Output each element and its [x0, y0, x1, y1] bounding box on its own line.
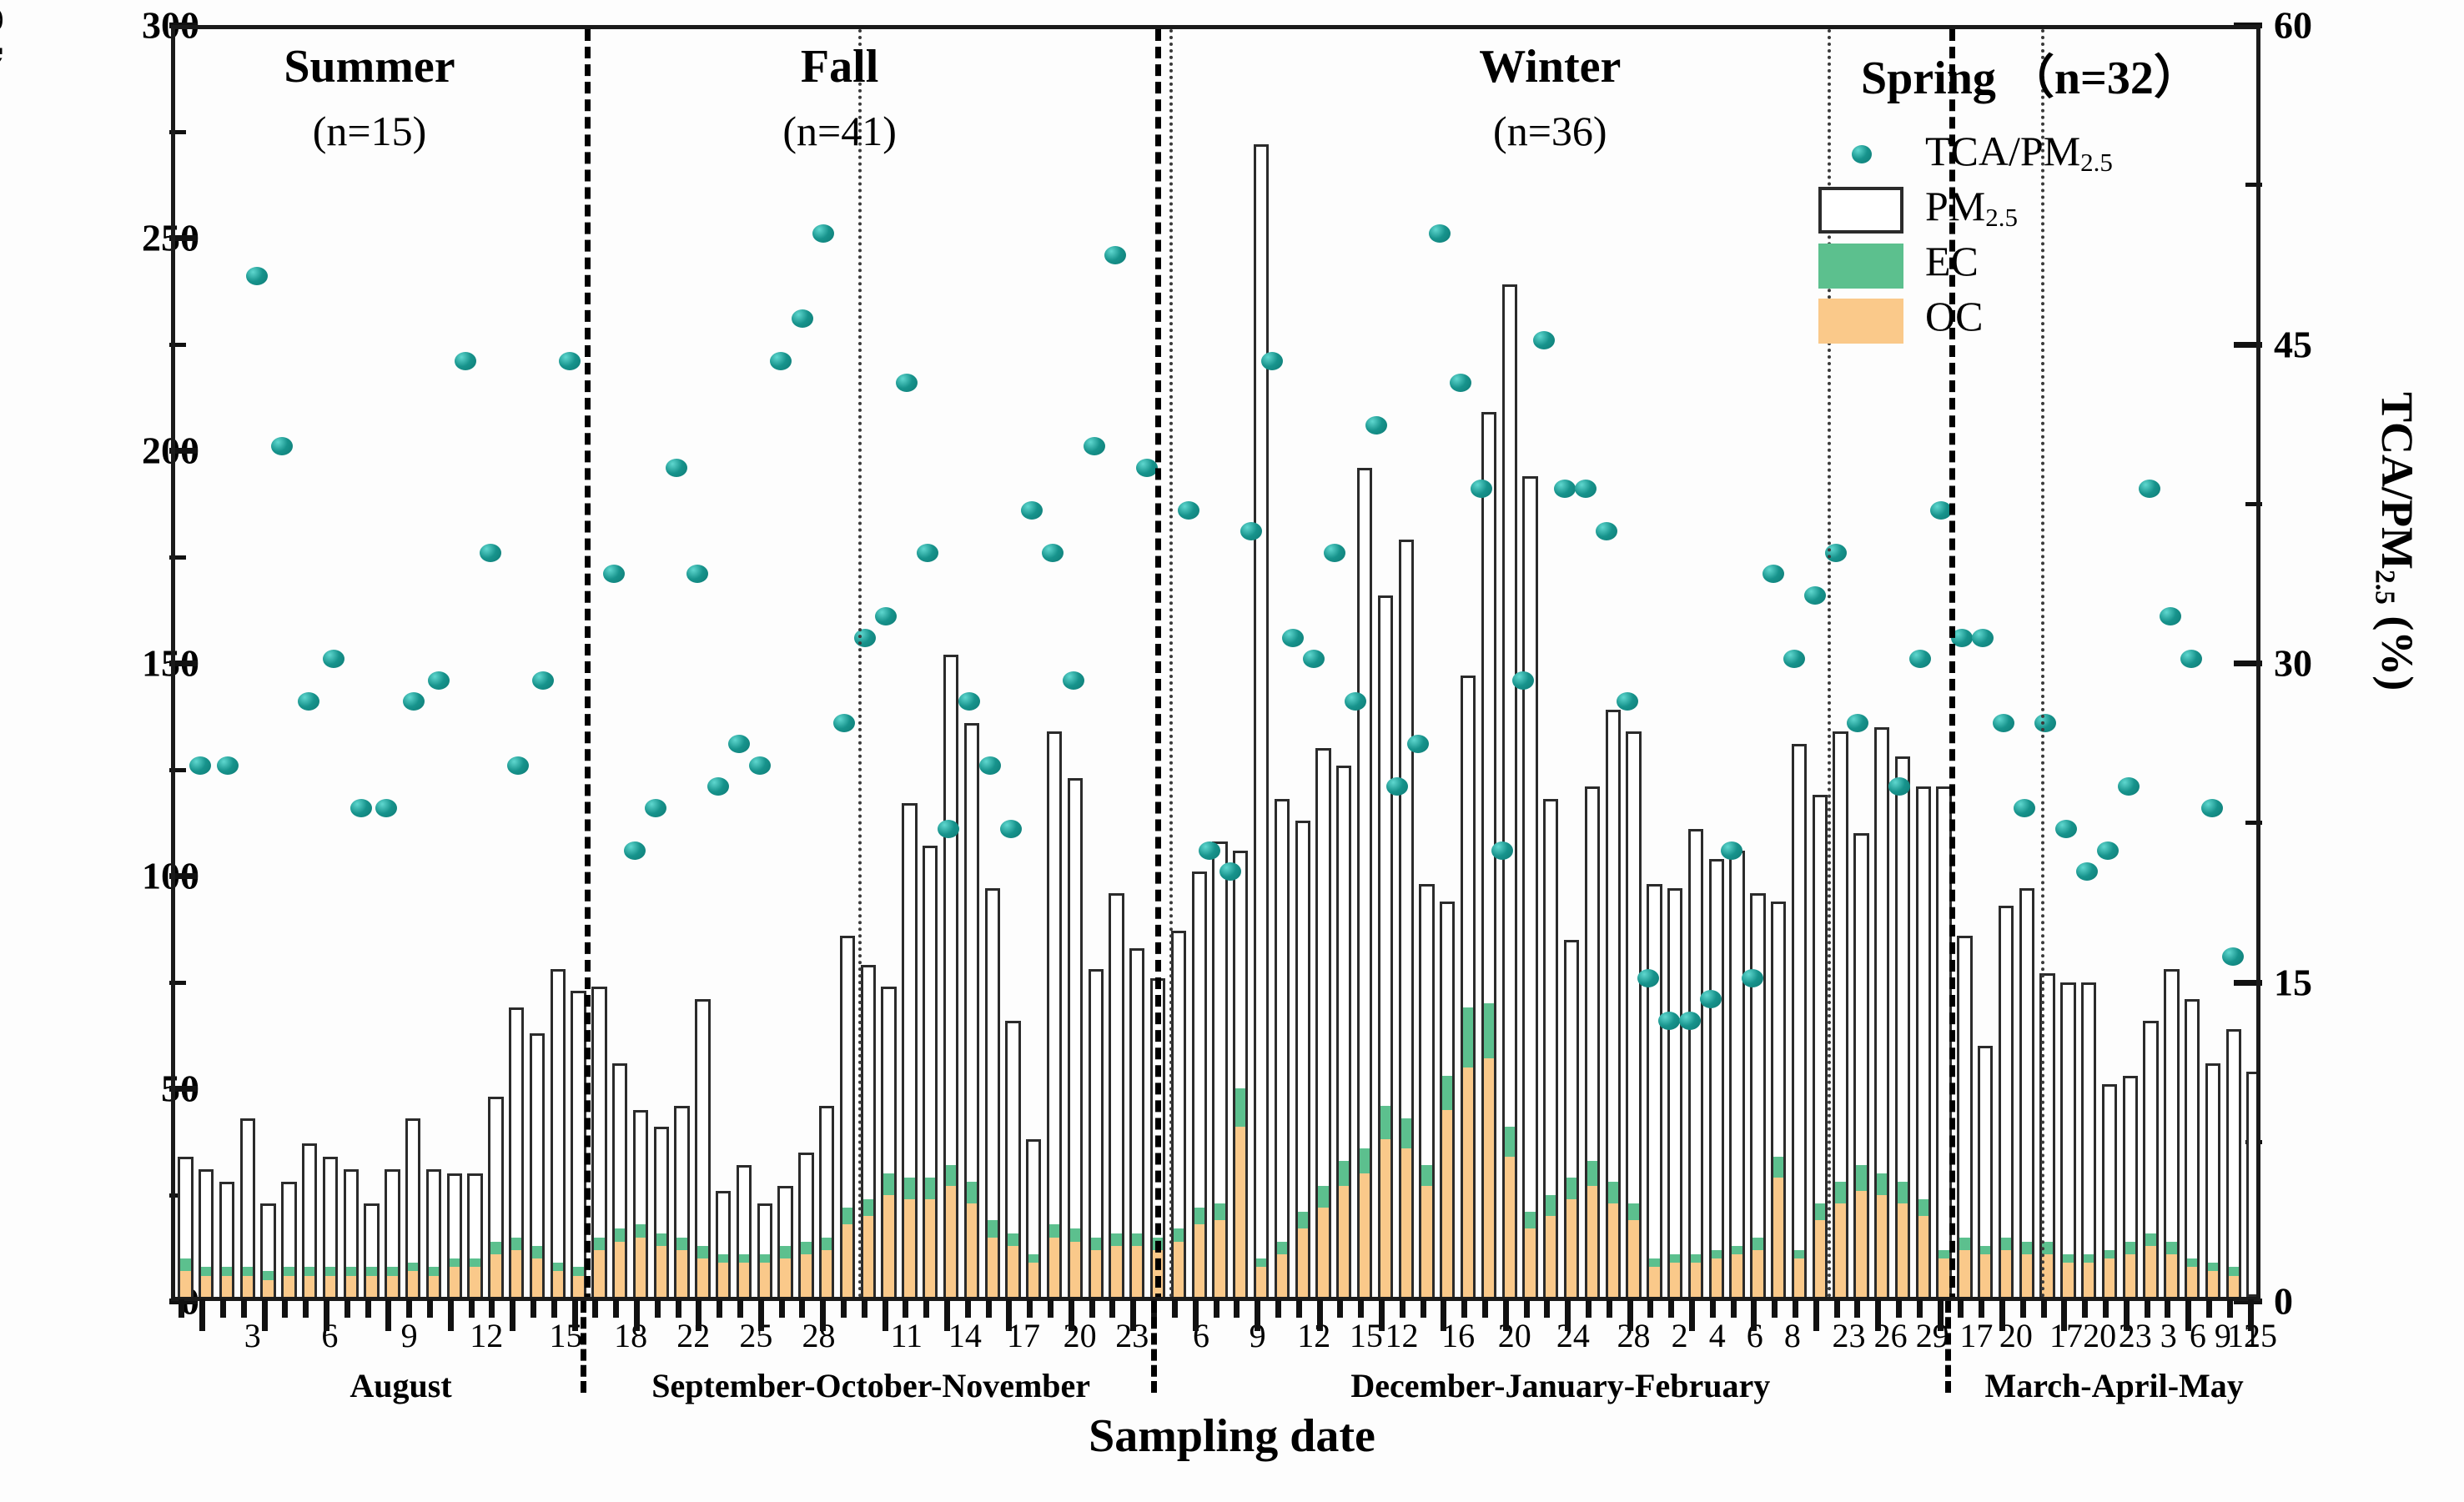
bar-group[interactable]: [819, 1106, 834, 1298]
tca-scatter-point: [403, 692, 425, 711]
bar-oc: [178, 1271, 193, 1297]
bar-group[interactable]: [405, 1118, 420, 1297]
bar-pm25: [2226, 1029, 2241, 1297]
bar-ec: [2123, 1242, 2138, 1254]
bar-group[interactable]: [716, 1191, 731, 1298]
bar-group[interactable]: [1792, 744, 1807, 1297]
bar-group[interactable]: [240, 1118, 255, 1297]
bar-oc: [1254, 1267, 1269, 1297]
bar-ec: [2081, 1254, 2096, 1263]
bar-oc: [1336, 1186, 1351, 1297]
x-tick-mark: [944, 1299, 950, 1331]
x-tick-mark: [2124, 1299, 2130, 1331]
legend-item-tca[interactable]: TCA/PM2.5: [1818, 125, 2252, 180]
x-tick-label: 2: [1672, 1316, 1688, 1355]
bar-oc: [1481, 1058, 1496, 1297]
x-tick-label: 20: [2083, 1316, 2116, 1355]
bar-ec: [1709, 1250, 1724, 1258]
bar-oc: [1047, 1238, 1062, 1297]
bar-group[interactable]: [612, 1063, 627, 1298]
bar-ec: [1750, 1238, 1765, 1250]
season-divider: [1155, 29, 1161, 1297]
bar-ec: [1399, 1118, 1414, 1148]
bar-group[interactable]: [674, 1106, 689, 1298]
bar-oc: [943, 1186, 958, 1297]
bar-ec: [2205, 1263, 2220, 1271]
bar-group[interactable]: [1688, 829, 1703, 1297]
bar-oc: [612, 1242, 627, 1297]
x-tick-mark: [551, 1299, 557, 1318]
tca-scatter-point: [1888, 777, 1910, 796]
bar-oc: [2205, 1271, 2220, 1297]
bar-group[interactable]: [447, 1173, 462, 1297]
x-tick-mark: [655, 1299, 661, 1318]
bar-group[interactable]: [1771, 902, 1786, 1297]
bar-ec: [1275, 1242, 1290, 1254]
x-tick-mark: [820, 1299, 826, 1331]
x-tick-mark: [758, 1299, 764, 1331]
bar-ec: [1729, 1246, 1744, 1254]
bar-ec: [1606, 1182, 1621, 1203]
bar-group[interactable]: [1853, 833, 1868, 1297]
bar-ec: [1626, 1203, 1641, 1220]
tca-scatter-point: [1972, 629, 1994, 647]
pm25-swatch-icon: [1818, 187, 1903, 234]
bar-oc: [819, 1250, 834, 1297]
bar-oc: [1192, 1224, 1207, 1297]
x-tick-mark: [2206, 1299, 2212, 1318]
bar-group[interactable]: [219, 1182, 234, 1297]
tca-scatter-point: [480, 544, 501, 562]
bar-group[interactable]: [1212, 841, 1227, 1297]
bar-ec: [1978, 1246, 1993, 1254]
bar-group[interactable]: [1543, 799, 1558, 1297]
bar-ec: [1585, 1161, 1600, 1187]
x-tick-label: 25: [739, 1316, 772, 1355]
bar-ec: [1212, 1203, 1227, 1220]
bar-ec: [1109, 1233, 1124, 1246]
tca-scatter-point: [2014, 799, 2035, 817]
legend-item-pm25[interactable]: PM2.5: [1818, 180, 2252, 235]
x-tick-mark: [1482, 1299, 1488, 1318]
bar-group[interactable]: [1750, 893, 1765, 1298]
bar-oc: [1068, 1242, 1083, 1297]
tca-scatter-point: [1763, 565, 1784, 583]
x-tick-mark: [282, 1299, 288, 1318]
x-tick-mark: [1772, 1299, 1778, 1318]
bar-oc: [757, 1263, 772, 1297]
tca-scatter-point: [1084, 437, 1105, 455]
bar-oc: [1109, 1246, 1124, 1297]
tca-scatter-point: [1000, 820, 1022, 838]
bar-group[interactable]: [1585, 786, 1600, 1297]
bar-group[interactable]: [1233, 851, 1248, 1298]
bar-group[interactable]: [1378, 595, 1393, 1298]
month-divider: [1169, 29, 1173, 1297]
tca-scatter-point: [1783, 650, 1805, 668]
bar-pm25: [1254, 144, 1269, 1297]
bar-ec: [2060, 1254, 2075, 1263]
bar-oc: [2185, 1267, 2200, 1297]
bar-oc: [1916, 1216, 1931, 1297]
bar-group[interactable]: [199, 1169, 214, 1297]
bar-oc: [1813, 1220, 1828, 1297]
bar-oc: [964, 1203, 979, 1297]
tca-scatter-point: [2201, 799, 2223, 817]
season-divider: [585, 29, 591, 1297]
bar-group[interactable]: [1357, 468, 1372, 1298]
bar-group[interactable]: [2081, 982, 2096, 1297]
bar-ec: [1647, 1258, 1662, 1267]
x-tick-mark: [427, 1299, 433, 1318]
bar-pm25: [2246, 1072, 2256, 1297]
bar-group[interactable]: [964, 723, 979, 1298]
bar-oc: [1440, 1110, 1455, 1297]
x-tick-mark: [1565, 1299, 1571, 1331]
bar-group[interactable]: [364, 1203, 379, 1297]
x-tick-mark: [1793, 1299, 1798, 1318]
season-divider-extension: [1151, 1301, 1157, 1393]
bar-pm25: [2060, 982, 2075, 1297]
bar-group[interactable]: [385, 1169, 400, 1297]
bar-group[interactable]: [281, 1182, 296, 1297]
bar-group[interactable]: [840, 936, 855, 1298]
bar-group[interactable]: [1089, 969, 1104, 1297]
bar-oc: [1005, 1246, 1020, 1297]
bar-group[interactable]: [1440, 902, 1455, 1297]
x-tick-mark: [1647, 1299, 1653, 1318]
bar-group[interactable]: [654, 1127, 669, 1297]
bar-oc: [1295, 1228, 1310, 1297]
tca-scatter-point: [2160, 607, 2181, 625]
bar-oc: [1378, 1139, 1393, 1297]
bar-oc: [260, 1280, 275, 1297]
bar-group[interactable]: [1502, 284, 1517, 1297]
bar-pm25: [1275, 799, 1290, 1297]
bar-group[interactable]: [1667, 888, 1682, 1297]
x-tick-mark: [1400, 1299, 1405, 1318]
bar-group[interactable]: [2123, 1076, 2138, 1297]
x-tick-mark: [1130, 1299, 1136, 1331]
bar-oc: [302, 1276, 317, 1298]
bar-oc: [1089, 1250, 1104, 1297]
tca-scatter-point: [1700, 990, 1722, 1008]
x-tick-mark: [2103, 1299, 2109, 1318]
bar-oc: [1978, 1254, 1993, 1297]
x-tick-mark: [1834, 1299, 1840, 1318]
bar-group[interactable]: [551, 969, 566, 1297]
bar-group[interactable]: [530, 1033, 545, 1297]
bar-group[interactable]: [1626, 731, 1641, 1297]
bar-group[interactable]: [1419, 884, 1434, 1297]
x-tick-mark: [986, 1299, 992, 1318]
x-tick-mark: [531, 1299, 536, 1318]
tca-scatter-point: [1575, 480, 1597, 498]
bar-group[interactable]: [2060, 982, 2075, 1297]
x-tick-label: 12: [1297, 1316, 1330, 1355]
bar-group[interactable]: [1129, 948, 1144, 1297]
legend-item-ec[interactable]: EC: [1818, 235, 2252, 290]
bar-group[interactable]: [1461, 676, 1476, 1297]
bar-oc: [1129, 1246, 1144, 1297]
bar-oc: [1895, 1203, 1910, 1297]
x-tick-label: 9: [401, 1316, 418, 1355]
bar-group[interactable]: [1813, 795, 1828, 1297]
x-axis-title: Sampling date: [0, 1409, 2464, 1463]
bar-ec: [1440, 1076, 1455, 1110]
tca-scatter-point: [532, 671, 554, 690]
tca-scatter-point: [1407, 735, 1429, 753]
bar-oc: [467, 1267, 482, 1297]
bar-group[interactable]: [1295, 821, 1310, 1297]
bar-oc: [1233, 1127, 1248, 1297]
bar-group[interactable]: [1606, 710, 1621, 1297]
x-tick-mark: [199, 1299, 205, 1331]
bar-group[interactable]: [1564, 940, 1579, 1297]
bar-group[interactable]: [902, 803, 917, 1297]
bar-group[interactable]: [2019, 888, 2034, 1297]
bar-group[interactable]: [1916, 786, 1931, 1297]
bar-oc: [1564, 1199, 1579, 1297]
bar-group[interactable]: [1522, 476, 1537, 1297]
bar-group[interactable]: [178, 1157, 193, 1297]
tca-dot-icon: [1852, 145, 1872, 163]
bar-ec: [1957, 1238, 1972, 1250]
bar-oc: [323, 1276, 338, 1298]
bar-group[interactable]: [1047, 731, 1062, 1297]
tca-scatter-point: [323, 650, 344, 668]
bar-group[interactable]: [2164, 969, 2179, 1297]
tca-scatter-point: [2118, 777, 2140, 796]
bar-group[interactable]: [1874, 727, 1889, 1297]
tca-scatter-point: [1637, 969, 1659, 987]
season-sample-count: (n=36): [1493, 107, 1607, 155]
tca-scatter-point: [958, 692, 980, 711]
tca-scatter-point: [2180, 650, 2202, 668]
tca-scatter-point: [1199, 841, 1220, 860]
bar-ec: [467, 1258, 482, 1267]
tca-scatter-point: [1491, 841, 1513, 860]
tca-scatter-point: [1742, 969, 1763, 987]
bar-oc: [1026, 1263, 1041, 1297]
bar-ec: [199, 1267, 214, 1275]
x-tick-mark: [1689, 1299, 1695, 1331]
bar-ec: [716, 1254, 731, 1263]
bar-oc: [1833, 1203, 1848, 1297]
bar-pm25: [2205, 1063, 2220, 1298]
bar-group[interactable]: [260, 1203, 275, 1297]
bar-group[interactable]: [509, 1007, 524, 1297]
bar-pm25: [1667, 888, 1682, 1297]
bar-group[interactable]: [1254, 144, 1269, 1297]
bar-oc: [1709, 1258, 1724, 1297]
bar-group[interactable]: [1978, 1046, 1993, 1297]
x-tick-mark: [2145, 1299, 2150, 1318]
bar-group[interactable]: [695, 999, 710, 1297]
bar-group[interactable]: [591, 987, 606, 1297]
tca-scatter-point: [2222, 947, 2244, 966]
bar-ec: [260, 1271, 275, 1279]
bar-oc: [881, 1195, 896, 1297]
bar-oc: [426, 1276, 441, 1298]
tca-scatter-point: [1282, 629, 1304, 647]
bar-ec: [695, 1246, 710, 1258]
x-tick-mark: [1421, 1299, 1426, 1318]
bar-group[interactable]: [426, 1169, 441, 1297]
bar-group[interactable]: [737, 1165, 752, 1297]
bar-oc: [1543, 1216, 1558, 1297]
bar-ec: [1813, 1203, 1828, 1220]
chart-figure: PM2.5, OC & EC (µg m-3) TCA/PM2.5 (%) Sa…: [0, 0, 2464, 1502]
x-tick-mark: [1731, 1299, 1737, 1318]
x-tick-mark: [489, 1299, 495, 1318]
tca-scatter-point: [833, 714, 855, 732]
bar-group[interactable]: [302, 1143, 317, 1297]
bar-ec: [861, 1199, 876, 1216]
bar-group[interactable]: [985, 888, 1000, 1297]
x-tick-mark: [1441, 1299, 1446, 1331]
x-tick-mark: [241, 1299, 247, 1318]
tca-scatter-point: [1345, 692, 1366, 711]
bar-oc: [2019, 1254, 2034, 1297]
bar-group[interactable]: [1192, 872, 1207, 1297]
x-tick-label: 4: [1709, 1316, 1726, 1355]
bar-ec: [923, 1178, 938, 1199]
tca-scatter-point: [2076, 862, 2098, 881]
bar-ec: [1502, 1127, 1517, 1157]
bar-group[interactable]: [943, 655, 958, 1297]
tca-scatter-point: [1471, 480, 1492, 498]
tca-scatter-point: [1993, 714, 2014, 732]
x-tick-label: 12: [1385, 1316, 1418, 1355]
bar-group[interactable]: [2205, 1063, 2220, 1298]
bar-group[interactable]: [1957, 936, 1972, 1298]
bar-group[interactable]: [798, 1153, 813, 1297]
bar-oc: [1315, 1208, 1330, 1297]
bar-group[interactable]: [1336, 766, 1351, 1298]
bar-ec: [1771, 1157, 1786, 1178]
bar-ec: [426, 1267, 441, 1275]
bar-oc: [364, 1276, 379, 1298]
bar-ec: [1792, 1250, 1807, 1258]
month-label: September-October-November: [651, 1366, 1090, 1405]
bar-group[interactable]: [2226, 1029, 2241, 1297]
bar-group[interactable]: [757, 1203, 772, 1297]
bar-group[interactable]: [488, 1097, 503, 1297]
bar-group[interactable]: [467, 1173, 482, 1297]
x-tick-label: 12: [470, 1316, 503, 1355]
bar-group[interactable]: [1068, 778, 1083, 1297]
bar-oc: [2123, 1254, 2138, 1297]
bar-group[interactable]: [323, 1157, 338, 1297]
x-tick-mark: [634, 1299, 640, 1331]
bar-group[interactable]: [881, 987, 896, 1297]
x-tick-mark: [1296, 1299, 1302, 1318]
bar-group[interactable]: [1647, 884, 1662, 1297]
bar-ec: [1129, 1233, 1144, 1246]
tca-scatter-point: [1554, 480, 1576, 498]
x-tick-mark: [965, 1299, 971, 1318]
x-tick-mark: [344, 1299, 350, 1318]
bar-ec: [1089, 1238, 1104, 1250]
x-tick-mark: [1193, 1299, 1199, 1331]
bar-group[interactable]: [1709, 859, 1724, 1297]
month-label: August: [349, 1366, 451, 1405]
tca-scatter-point: [875, 607, 897, 625]
bar-group[interactable]: [1399, 540, 1414, 1297]
bar-group[interactable]: [2143, 1021, 2158, 1298]
season-divider-extension: [581, 1301, 586, 1393]
x-tick-label: 8: [1784, 1316, 1801, 1355]
bar-group[interactable]: [633, 1110, 648, 1297]
bar-group[interactable]: [777, 1186, 792, 1297]
tca-scatter-point: [624, 841, 646, 860]
season-title: Fall: [801, 40, 878, 93]
bar-group[interactable]: [1026, 1139, 1041, 1297]
bar-ec: [985, 1220, 1000, 1237]
bar-group[interactable]: [1895, 756, 1910, 1297]
bar-oc: [530, 1258, 545, 1297]
bar-oc: [509, 1250, 524, 1297]
bar-group[interactable]: [1005, 1021, 1020, 1298]
bar-ec: [612, 1228, 627, 1241]
bar-group[interactable]: [1999, 906, 2014, 1297]
bar-group[interactable]: [923, 846, 938, 1297]
bar-ec: [633, 1224, 648, 1237]
bar-group[interactable]: [1315, 748, 1330, 1297]
bar-group[interactable]: [344, 1169, 359, 1297]
tca-scatter-point: [770, 352, 792, 370]
legend-item-oc[interactable]: OC: [1818, 290, 2252, 345]
x-tick-mark: [2041, 1299, 2047, 1318]
x-tick-mark: [469, 1299, 475, 1318]
legend-label-ec: EC: [1925, 237, 1979, 285]
bar-ec: [509, 1238, 524, 1250]
ec-swatch-icon: [1818, 244, 1903, 289]
bar-group[interactable]: [1729, 851, 1744, 1298]
tca-scatter-point: [298, 692, 319, 711]
x-tick-mark: [1379, 1299, 1385, 1331]
bar-ec: [1853, 1165, 1868, 1191]
bar-oc: [1647, 1267, 1662, 1297]
x-tick-mark: [1109, 1299, 1115, 1318]
bar-group[interactable]: [2246, 1072, 2256, 1297]
bar-group[interactable]: [1171, 931, 1186, 1297]
bar-oc: [2143, 1246, 2158, 1297]
tca-scatter-point: [2055, 820, 2077, 838]
bar-pm25: [1750, 893, 1765, 1298]
tca-scatter-point: [375, 799, 397, 817]
tca-scatter-point: [1021, 501, 1043, 520]
bar-oc: [923, 1199, 938, 1297]
bar-group[interactable]: [1109, 893, 1124, 1298]
x-tick-mark: [2185, 1299, 2191, 1331]
bar-oc: [385, 1276, 400, 1298]
bar-group[interactable]: [2185, 999, 2200, 1297]
bar-ec: [674, 1238, 689, 1250]
bar-group[interactable]: [1833, 731, 1848, 1297]
tca-scatter-point: [189, 756, 211, 775]
bar-group[interactable]: [1275, 799, 1290, 1297]
bar-pm25: [1522, 476, 1537, 1297]
bar-group[interactable]: [2102, 1084, 2117, 1297]
bar-group[interactable]: [861, 965, 876, 1297]
x-tick-mark: [613, 1299, 619, 1318]
bar-ec: [2226, 1267, 2241, 1275]
tca-scatter-point: [2139, 480, 2160, 498]
x-tick-mark: [1255, 1299, 1260, 1331]
bar-ec: [488, 1242, 503, 1254]
